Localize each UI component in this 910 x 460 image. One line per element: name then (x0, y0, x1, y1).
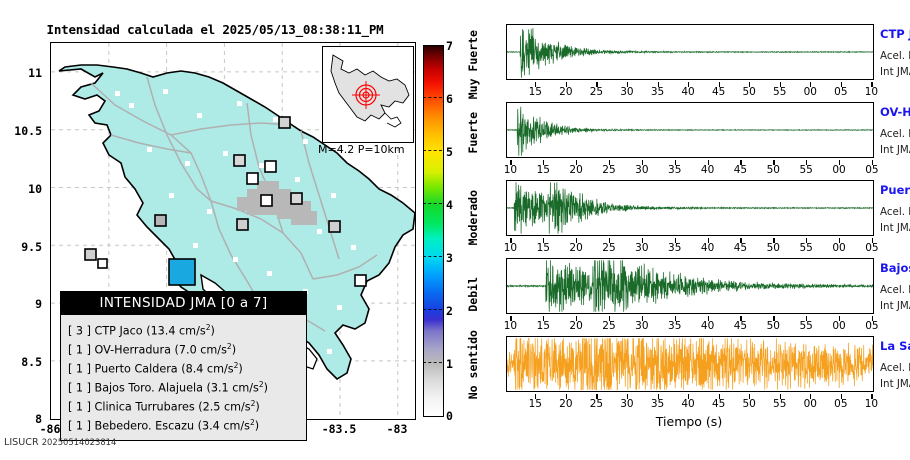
seismogram-time-axis: 101520253035404550550005 (506, 238, 872, 249)
legend-close: ) (255, 419, 259, 432)
station-accel-label: Acel. Max. 1.2 (880, 50, 910, 62)
list-item: [ 1 ] OV-Herradura (7.0 cm/s2) (68, 339, 306, 358)
station-square (265, 161, 276, 172)
station-jma-label: Int JMA: 1 (880, 300, 910, 312)
axis-tick-label: 50 (761, 164, 785, 176)
magnitude-depth-label: M=4.2 P=10km (318, 143, 405, 156)
colorbar-label-moderado: Moderado (466, 190, 480, 245)
axis-tick-label: 40 (676, 398, 700, 410)
station-jma-label: Int JMA: 0 (880, 378, 910, 390)
axis-tick-label: 20 (554, 86, 578, 98)
list-item: [ 1 ] Bajos Toro. Alajuela (3.1 cm/s2) (68, 377, 306, 396)
legend-station: Puerto Caldera (95, 363, 178, 376)
axis-tick-label: 10 (498, 242, 522, 254)
footer-credit: LISUCR 20250514023814 (4, 437, 116, 448)
legend-accel: (7.0 cm/s (175, 344, 227, 357)
axis-tick-label: 35 (663, 164, 687, 176)
seismogram-time-axis: 152025303540455055000510 (506, 394, 872, 405)
station-square (85, 249, 96, 260)
station-name-label[interactable]: CTP Jaco (880, 27, 910, 41)
waveform-trace (507, 181, 873, 235)
axis-tick-label: 05 (860, 242, 884, 254)
list-item: [ 1 ] Puerto Caldera (8.4 cm/s2) (68, 358, 306, 377)
axis-tick-label: 50 (737, 86, 761, 98)
seismogram-panel[interactable] (506, 258, 874, 314)
seismogram-time-axis: 152025303540455055000510 (506, 82, 872, 93)
station-jma-label: Int JMA: 1 (880, 144, 910, 156)
station-square (291, 193, 302, 204)
legend-accel: (3.1 cm/s (207, 382, 259, 395)
axis-tick-label: 40 (696, 320, 720, 332)
station-square (155, 215, 166, 226)
map-ytick-4: 9 (0, 297, 42, 311)
colorbar-tick-6: 6 (446, 92, 462, 106)
legend-accel: (8.4 cm/s (181, 363, 233, 376)
legend-accel: (13.4 cm/s (146, 325, 205, 338)
map-ytick-1: 10.5 (0, 124, 42, 138)
legend-close: ) (232, 344, 236, 357)
axis-tick-label: 45 (728, 320, 752, 332)
axis-tick-label: 00 (798, 398, 822, 410)
axis-tick-label: 15 (531, 242, 555, 254)
colorbar-tick-4: 4 (446, 198, 462, 212)
axis-tick-label: 20 (564, 320, 588, 332)
legend-close: ) (210, 325, 214, 338)
station-accel-label: Acel. Max. 1.2 (880, 128, 910, 140)
colorbar-label-muy-fuerte: Muy Fuerte (466, 30, 480, 99)
axis-tick-label: 25 (597, 164, 621, 176)
axis-tick-label: 30 (630, 242, 654, 254)
axis-tick-label: 20 (554, 398, 578, 410)
seismogram-panel[interactable] (506, 102, 874, 158)
legend-station: CTP Jaco (95, 325, 143, 338)
axis-tick-label: 20 (564, 242, 588, 254)
waveform-trace (507, 259, 873, 313)
station-name-label[interactable]: OV-Herradura (880, 105, 910, 119)
list-item: [ 3 ] CTP Jaco (13.4 cm/s2) (68, 320, 306, 339)
axis-tick-label: 15 (523, 86, 547, 98)
axis-tick-label: 00 (827, 320, 851, 332)
legend-station: Bebedero. Escazu (95, 419, 195, 432)
legend-body: [ 3 ] CTP Jaco (13.4 cm/s2) [ 1 ] OV-Her… (61, 315, 306, 440)
map-xtick-6: -83 (372, 422, 422, 436)
axis-tick-label: 25 (597, 242, 621, 254)
legend-jma: [ 1 ] (68, 363, 91, 376)
colorbar-tick-3: 3 (446, 251, 462, 265)
station-square (247, 173, 258, 184)
legend-title: INTENSIDAD JMA [0 a 7] (61, 292, 306, 315)
axis-tick-label: 25 (597, 320, 621, 332)
axis-tick-label: 15 (523, 398, 547, 410)
list-item: [ 1 ] Bebedero. Escazu (3.4 cm/s2) (68, 415, 306, 434)
axis-tick-label: 30 (630, 320, 654, 332)
legend-close: ) (264, 382, 268, 395)
station-name-label[interactable]: La Sabana (880, 339, 910, 353)
axis-tick-label: 10 (859, 86, 883, 98)
seismogram-panel[interactable] (506, 24, 874, 80)
station-square (329, 221, 340, 232)
axis-tick-label: 15 (531, 164, 555, 176)
station-square (279, 117, 290, 128)
inset-canvas (323, 47, 413, 142)
axis-tick-label: 15 (531, 320, 555, 332)
axis-tick-label: 40 (696, 242, 720, 254)
colorbar-tick-7: 7 (446, 39, 462, 53)
map-ytick-5: 8.5 (0, 355, 42, 369)
station-accel-label: Acel. Max. 0.0 (880, 362, 910, 374)
station-accel-label: Acel. Max. 1.0 (880, 206, 910, 218)
event-code: 20250514023814 (42, 437, 117, 447)
axis-tick-label: 35 (646, 86, 670, 98)
station-accel-label: Acel. Max. 0.9 (880, 284, 910, 296)
station-square (234, 155, 245, 166)
axis-tick-label: 40 (676, 86, 700, 98)
legend-accel: (3.4 cm/s (198, 419, 250, 432)
axis-tick-label: 30 (615, 398, 639, 410)
colorbar-label-debil: Debil (466, 277, 480, 312)
legend-jma: [ 1 ] (68, 419, 91, 432)
axis-tick-label: 00 (798, 86, 822, 98)
station-square-jaco (169, 259, 195, 285)
map-ytick-0: 11 (0, 66, 42, 80)
axis-tick-label: 25 (584, 398, 608, 410)
waveform-trace (507, 25, 873, 79)
legend-station: Bajos Toro. Alajuela (95, 382, 203, 395)
legend-jma: [ 1 ] (68, 382, 91, 395)
colorbar-tick-5: 5 (446, 145, 462, 159)
axis-tick-label: 05 (860, 320, 884, 332)
waveform-trace (507, 103, 873, 157)
axis-tick-label: 25 (584, 86, 608, 98)
map-xtick-5: -83.5 (314, 422, 364, 436)
station-name-label[interactable]: Puerto Caldera (880, 183, 910, 197)
axis-tick-label: 05 (829, 86, 853, 98)
colorbar-tick-1: 1 (446, 357, 462, 371)
axis-tick-label: 45 (707, 86, 731, 98)
axis-tick-label: 30 (630, 164, 654, 176)
list-item: [ 1 ] Clinica Turrubares (2.5 cm/s2) (68, 396, 306, 415)
station-square (261, 195, 272, 206)
legend-station: OV-Herradura (95, 344, 171, 357)
axis-tick-label: 10 (498, 320, 522, 332)
axis-tick-label: 05 (829, 398, 853, 410)
station-name-label[interactable]: Bajos Toro, Alajuela (880, 261, 910, 275)
legend-jma: [ 3 ] (68, 325, 91, 338)
colorbar-label-no-sentido: No sentido (466, 330, 480, 399)
seismogram-xaxis-title: Tiempo (s) (506, 414, 872, 429)
seismogram-panel[interactable] (506, 336, 874, 392)
axis-tick-label: 55 (768, 86, 792, 98)
seismogram-panel[interactable] (506, 180, 874, 236)
axis-tick-label: 45 (728, 164, 752, 176)
colorbar-tick-2: 2 (446, 304, 462, 318)
colorbar-tick-0: 0 (446, 409, 462, 423)
seismogram-time-axis: 101520253035404550550005 (506, 316, 872, 327)
axis-tick-label: 30 (615, 86, 639, 98)
axis-tick-label: 20 (564, 164, 588, 176)
axis-tick-label: 50 (761, 320, 785, 332)
station-square (98, 259, 107, 268)
waveform-trace (507, 337, 873, 391)
axis-tick-label: 10 (498, 164, 522, 176)
seismogram-stack: 152025303540455055000510CTP JacoAcel. Ma… (486, 10, 910, 430)
locator-inset-map[interactable] (322, 46, 414, 143)
agency-label: LISUCR (4, 437, 39, 448)
axis-tick-label: 35 (646, 398, 670, 410)
intensity-legend: INTENSIDAD JMA [0 a 7] [ 3 ] CTP Jaco (1… (60, 291, 307, 441)
legend-station: Clinica Turrubares (95, 400, 195, 413)
legend-close: ) (255, 400, 259, 413)
axis-tick-label: 35 (663, 242, 687, 254)
station-square (237, 219, 248, 230)
axis-tick-label: 00 (827, 164, 851, 176)
legend-jma: [ 1 ] (68, 400, 91, 413)
station-jma-label: Int JMA: 1 (880, 222, 910, 234)
station-square (355, 275, 366, 286)
legend-accel: (2.5 cm/s (198, 400, 250, 413)
colorbar-label-fuerte: Fuerte (466, 112, 480, 154)
axis-tick-label: 45 (707, 398, 731, 410)
axis-tick-label: 00 (827, 242, 851, 254)
axis-tick-label: 40 (696, 164, 720, 176)
seismogram-time-axis: 101520253035404550550005 (506, 160, 872, 171)
axis-tick-label: 05 (860, 164, 884, 176)
axis-tick-label: 50 (737, 398, 761, 410)
map-ytick-3: 9.5 (0, 240, 42, 254)
page-title: Intensidad calculada el 2025/05/13_08:38… (0, 22, 430, 37)
axis-tick-label: 55 (768, 398, 792, 410)
axis-tick-label: 50 (761, 242, 785, 254)
axis-tick-label: 55 (794, 320, 818, 332)
map-ytick-2: 10 (0, 182, 42, 196)
axis-tick-label: 45 (728, 242, 752, 254)
legend-close: ) (238, 363, 242, 376)
axis-tick-label: 35 (663, 320, 687, 332)
axis-tick-label: 55 (794, 164, 818, 176)
axis-tick-label: 10 (859, 398, 883, 410)
axis-tick-label: 55 (794, 242, 818, 254)
legend-jma: [ 1 ] (68, 344, 91, 357)
station-jma-label: Int JMA: 1 (880, 66, 910, 78)
